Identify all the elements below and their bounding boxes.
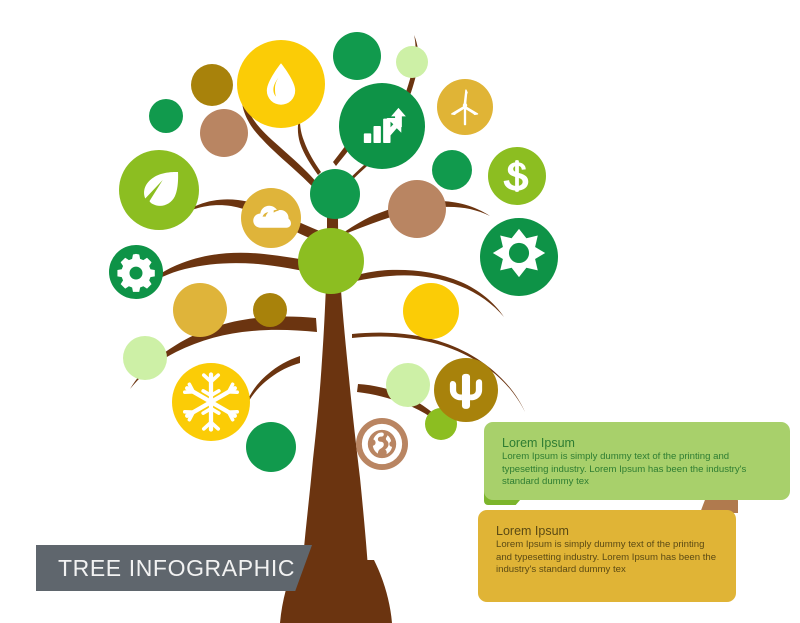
leaf-dot-olive-1: [298, 228, 364, 294]
cactus-circle[interactable]: [434, 358, 498, 422]
dollar-circle[interactable]: [488, 147, 546, 205]
branch-left-twig: [244, 356, 300, 410]
leaf-dot-palegreen-3: [386, 363, 430, 407]
leaf-dot-palegreen-1: [396, 46, 428, 78]
leaf-dot-brown-1: [200, 109, 248, 157]
globe-circle[interactable]: [356, 418, 408, 470]
leaf-dot-green-3: [432, 150, 472, 190]
branch-left-gear: [141, 253, 318, 289]
page-title: TREE INFOGRAPHIC: [36, 555, 295, 582]
leaf-circle[interactable]: [119, 150, 199, 230]
callout-green-body: Lorem Ipsum is simply dummy text of the …: [502, 451, 772, 489]
title-banner: TREE INFOGRAPHIC: [36, 545, 288, 591]
water-drop-circle[interactable]: [237, 40, 325, 128]
leaf-dot-palegreen-2: [123, 336, 167, 380]
gear-circle[interactable]: [109, 245, 163, 299]
cloud-circle[interactable]: [241, 188, 301, 248]
leaf-dot-green-5: [246, 422, 296, 472]
leaf-dot-brown-2: [388, 180, 446, 238]
callout-green-heading: Lorem Ipsum: [502, 436, 772, 450]
sun-circle[interactable]: [480, 218, 558, 296]
callout-yellow[interactable]: Lorem Ipsum Lorem Ipsum is simply dummy …: [478, 510, 736, 602]
callout-green[interactable]: Lorem Ipsum Lorem Ipsum is simply dummy …: [484, 422, 790, 500]
wind-turbine-circle[interactable]: [437, 79, 493, 135]
leaf-dot-green-1: [149, 99, 183, 133]
leaf-dot-darkgold-1: [253, 293, 287, 327]
leaf-dot-green-2: [333, 32, 381, 80]
snowflake-circle[interactable]: [172, 363, 250, 441]
leaf-dot-yellow-1: [403, 283, 459, 339]
callout-yellow-body: Lorem Ipsum is simply dummy text of the …: [496, 539, 718, 577]
leaf-dot-green-4: [310, 169, 360, 219]
growth-chart-circle-bg: [339, 83, 425, 169]
leaf-dot-gold-2: [173, 283, 227, 337]
growth-chart-circle[interactable]: [339, 83, 425, 169]
tree-infographic-canvas: Lorem Ipsum Lorem Ipsum is simply dummy …: [0, 0, 800, 623]
callout-yellow-heading: Lorem Ipsum: [496, 524, 718, 538]
leaf-dot-gold-1: [191, 64, 233, 106]
sun-icon: [493, 229, 545, 277]
